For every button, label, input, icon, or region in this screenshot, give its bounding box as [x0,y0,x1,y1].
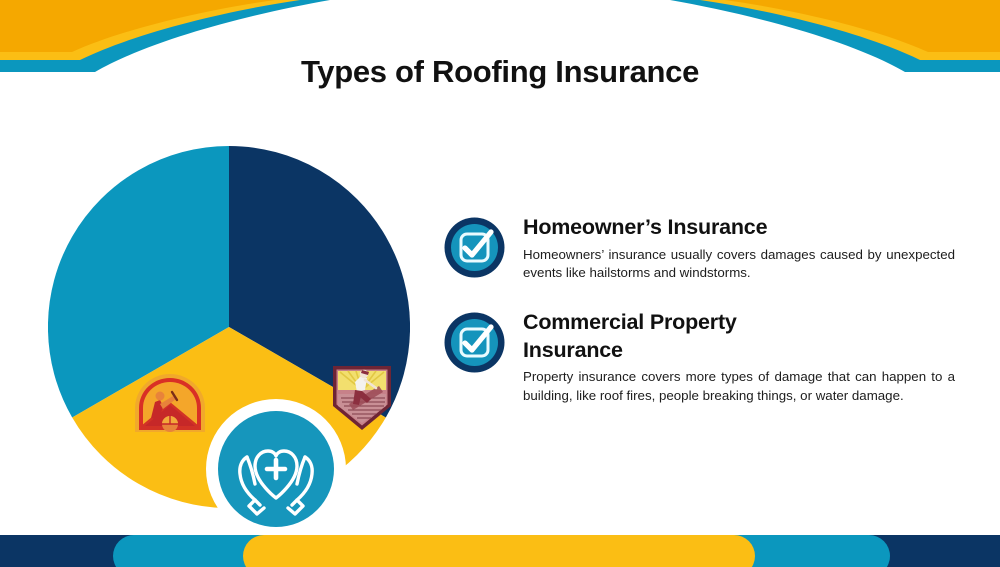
hands-holding-heart-icon [203,396,349,542]
insurance-type-list: Homeowner’s Insurance Homeowners’ insura… [443,212,963,428]
list-item: Commercial Property Insurance Property i… [443,307,963,406]
checkbox-check-badge-icon [443,311,506,374]
list-item-title: Commercial Property Insurance [523,309,813,364]
pie-chart [48,146,410,508]
slide-canvas: Types of Roofing Insurance [0,0,1000,567]
checkbox-check-badge-icon [443,216,506,279]
list-item-body: Homeowners’ insurance usually covers dam… [523,246,955,284]
page-title: Types of Roofing Insurance [0,54,1000,90]
roofer-house-badge-icon [133,374,207,435]
list-item-text: Commercial Property Insurance Property i… [523,307,963,406]
list-item-title: Homeowner’s Insurance [523,214,943,242]
list-item: Homeowner’s Insurance Homeowners’ insura… [443,212,963,283]
list-item-text: Homeowner’s Insurance Homeowners’ insura… [523,212,963,283]
footer-bar-navy [0,535,1000,567]
footer-bar [0,535,1000,567]
clipboard-checklist-icon [240,552,304,567]
list-item-body: Property insurance covers more types of … [523,368,955,406]
